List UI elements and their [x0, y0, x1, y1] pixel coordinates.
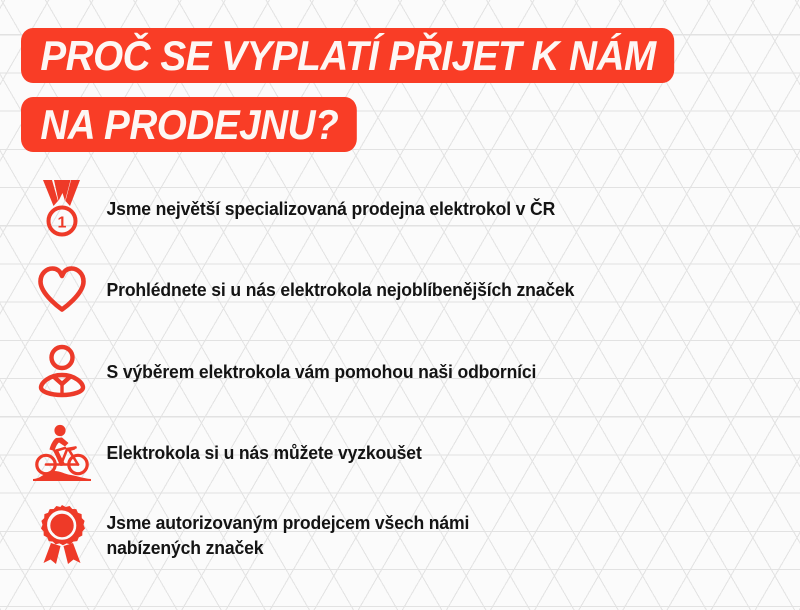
heart-outline-icon	[26, 253, 98, 325]
award-rosette-icon	[26, 499, 98, 571]
feature-list: 1 Jsme největší specializovaná prodejna …	[0, 168, 800, 578]
feature-item-largest-shop: 1 Jsme největší specializovaná prodejna …	[0, 168, 800, 248]
feature-label: Elektrokola si u nás můžete vyzkoušet	[98, 440, 422, 465]
headline-line-2: NA PRODEJNU?	[21, 97, 357, 152]
feature-label: Jsme autorizovaným prodejcem všech námi …	[98, 510, 469, 560]
feature-label: S výběrem elektrokola vám pomohou naši o…	[98, 359, 536, 384]
feature-item-authorized-dealer: Jsme autorizovaným prodejcem všech námi …	[0, 492, 800, 578]
feature-item-popular-brands: Prohlédnete si u nás elektrokola nejoblí…	[0, 248, 800, 330]
feature-item-test-ride: Elektrokola si u nás můžete vyzkoušet	[0, 412, 800, 492]
consultant-person-icon	[26, 335, 98, 407]
headline-line-1: PROČ SE VYPLATÍ PŘIJET K NÁM	[21, 28, 674, 83]
feature-label: Prohlédnete si u nás elektrokola nejoblí…	[98, 277, 574, 302]
feature-label: Jsme největší specializovaná prodejna el…	[98, 196, 555, 221]
cyclist-on-hill-icon	[26, 416, 98, 488]
medal-number-label: 1	[58, 215, 67, 232]
feature-item-expert-advice: S výběrem elektrokola vám pomohou naši o…	[0, 330, 800, 412]
promo-banner: PROČ SE VYPLATÍ PŘIJET K NÁM NA PRODEJNU…	[0, 0, 800, 610]
medal-first-place-icon: 1	[26, 172, 98, 244]
